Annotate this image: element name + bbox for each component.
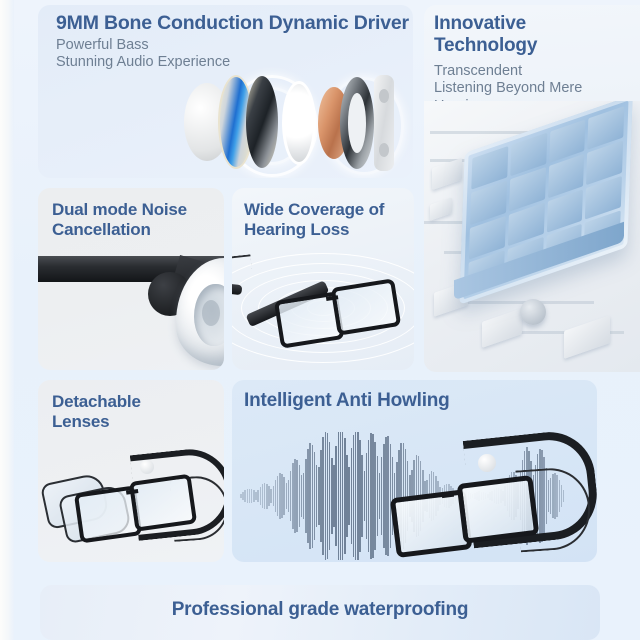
smart-glasses-graphic	[382, 442, 592, 562]
glasses-lens-right	[457, 475, 540, 544]
circuit-board-illustration	[424, 101, 640, 372]
noise-cancellation-title: Dual mode Noise Cancellation	[52, 200, 187, 239]
capacitor-component	[520, 299, 546, 325]
wide-coverage-title: Wide Coverage of Hearing Loss	[244, 200, 384, 239]
smart-glasses-graphic	[240, 262, 410, 348]
circuit-component	[430, 197, 452, 221]
technology-title: Innovative Technology	[434, 13, 537, 57]
glasses-earbud	[478, 454, 496, 472]
driver-dark-ring-part	[246, 76, 278, 168]
infographic-page: 9MM Bone Conduction Dynamic Driver Power…	[0, 0, 640, 640]
circuit-component	[482, 308, 522, 348]
panel-detachable-lenses: Detachable Lenses	[38, 380, 224, 562]
banner-waterproofing: Professional grade waterproofing	[40, 585, 600, 640]
glasses-lens-right	[331, 278, 402, 335]
anti-howling-title: Intelligent Anti Howling	[244, 390, 450, 412]
panel-anti-howling: Intelligent Anti Howling	[232, 380, 597, 562]
glasses-earbud	[140, 460, 154, 474]
glasses-lens-right	[129, 474, 197, 532]
smart-glasses-graphic	[76, 454, 216, 550]
panel-noise-cancellation: Dual mode Noise Cancellation	[38, 188, 224, 370]
circuit-component	[564, 315, 610, 359]
glasses-frame	[389, 476, 531, 548]
detachable-lenses-illustration	[38, 434, 224, 562]
circuit-component	[432, 158, 462, 190]
driver-bracket-part	[374, 75, 394, 171]
ear-illustration	[38, 246, 224, 370]
panel-wide-coverage: Wide Coverage of Hearing Loss	[232, 188, 414, 370]
waterproofing-title: Professional grade waterproofing	[40, 599, 600, 621]
exploded-driver-illustration	[178, 67, 413, 178]
panel-innovative-technology: Innovative Technology Transcendent Liste…	[424, 5, 640, 372]
driver-white-ring-part	[282, 81, 316, 165]
driver-metal-ring-part	[340, 77, 374, 169]
glasses-frame	[73, 474, 190, 535]
detachable-lenses-title: Detachable Lenses	[52, 392, 141, 431]
driver-title: 9MM Bone Conduction Dynamic Driver	[56, 12, 409, 35]
glasses-frame	[273, 279, 394, 341]
panel-bone-conduction-driver: 9MM Bone Conduction Dynamic Driver Power…	[38, 5, 413, 178]
